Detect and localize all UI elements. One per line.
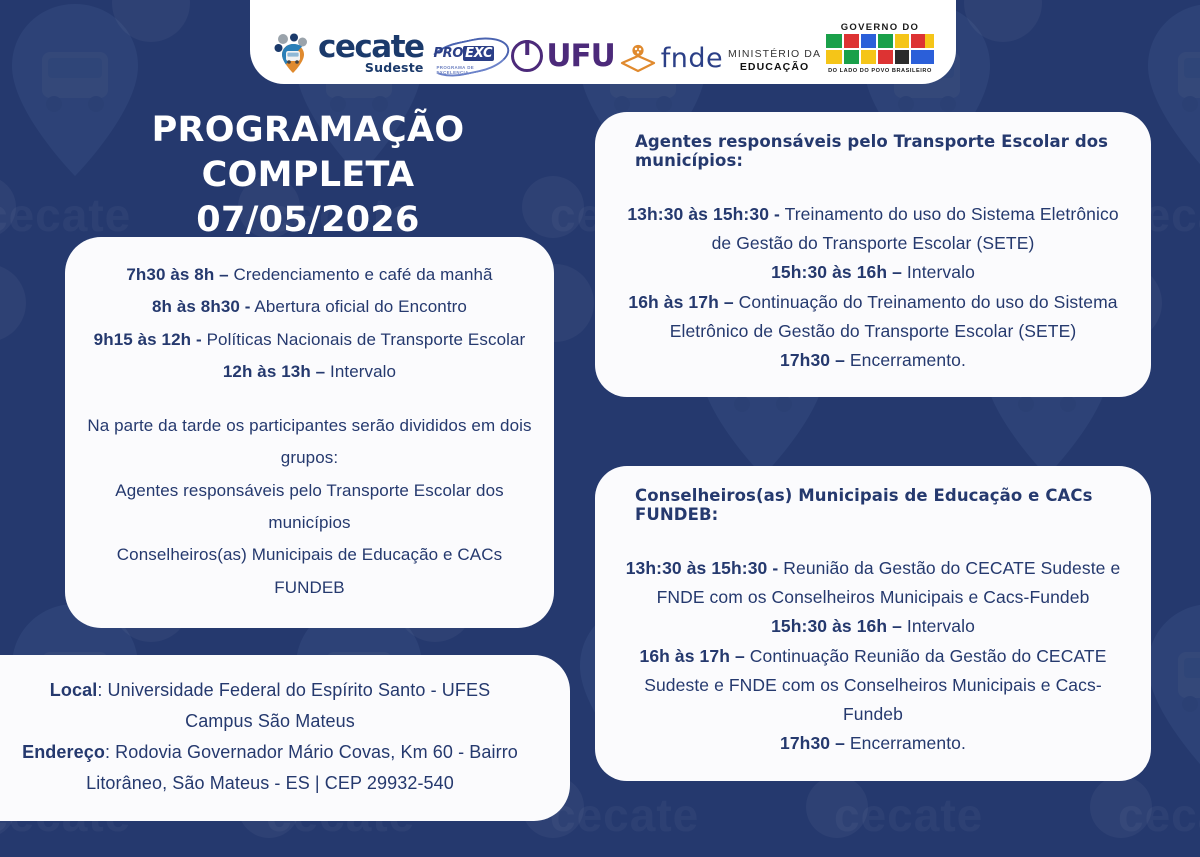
proexc-logo: PROEXC PROGRAMA DE EXCELENCIA: [428, 38, 506, 74]
cecate-sub-wordmark: Sudeste: [365, 62, 424, 75]
schedule-time: 9h15 às 12h -: [94, 330, 202, 349]
agentes-card-title: Agentes responsáveis pelo Transporte Esc…: [617, 132, 1129, 170]
schedule-desc: Continuação do Treinamento do uso do Sis…: [670, 292, 1118, 341]
ministerio-line2: EDUCAÇÃO: [740, 61, 809, 74]
morning-schedule-card: 7h30 às 8h – Credenciamento e café da ma…: [65, 237, 554, 628]
cecate-mark-icon: [272, 32, 314, 74]
venue-address-value: : Rodovia Governador Mário Covas, Km 60 …: [86, 742, 518, 793]
group-note: Agentes responsáveis pelo Transporte Esc…: [83, 475, 536, 540]
venue-local-row: Local: Universidade Federal do Espírito …: [14, 675, 526, 737]
schedule-desc: Credenciamento e café da manhã: [229, 265, 493, 284]
watermark-wordmark: cecate: [834, 788, 983, 842]
spacer: [83, 388, 536, 410]
ufu-logo: UFU: [511, 38, 615, 74]
schedule-time: 13h:30 às 15h:30 -: [627, 204, 780, 224]
venue-local-label: Local: [50, 680, 98, 700]
poster-canvas: cecate cecate cecate cecate: [0, 0, 1200, 857]
ufu-wordmark: UFU: [546, 38, 615, 74]
group-note: Na parte da tarde os participantes serão…: [83, 410, 536, 475]
venue-local-value: : Universidade Federal do Espírito Santo…: [97, 680, 490, 731]
venue-address-row: Endereço: Rodovia Governador Mário Covas…: [14, 737, 526, 799]
fnde-wordmark: fnde: [661, 43, 723, 74]
watermark-circle: [112, 0, 190, 42]
schedule-row: 8h às 8h30 - Abertura oficial do Encontr…: [83, 291, 536, 323]
schedule-row: 7h30 às 8h – Credenciamento e café da ma…: [83, 259, 536, 291]
schedule-time: 17h30 –: [780, 350, 845, 370]
brasil-blocks-icon: [826, 34, 934, 66]
schedule-desc: Intervalo: [902, 616, 975, 636]
schedule-time: 17h30 –: [780, 733, 845, 753]
fnde-logo: fnde: [620, 43, 723, 74]
governo-top-text: GOVERNO DO: [841, 22, 919, 33]
watermark-circle: [806, 776, 868, 838]
watermark-circle: [964, 0, 1042, 42]
schedule-time: 7h30 às 8h –: [126, 265, 228, 284]
fnde-mark-icon: [620, 44, 656, 74]
schedule-row: 15h:30 às 16h – Intervalo: [617, 258, 1129, 287]
schedule-time: 15h:30 às 16h –: [771, 616, 902, 636]
schedule-row: 12h às 13h – Intervalo: [83, 356, 536, 388]
schedule-time: 16h às 17h –: [628, 292, 733, 312]
cecate-logo: cecate Sudeste: [272, 32, 424, 75]
group-note: Conselheiros(as) Municipais de Educação …: [83, 539, 536, 604]
schedule-desc: Intervalo: [325, 362, 396, 381]
schedule-row: 17h30 – Encerramento.: [617, 729, 1129, 758]
agentes-card: Agentes responsáveis pelo Transporte Esc…: [595, 112, 1151, 397]
schedule-row: 13h:30 às 15h:30 - Reunião da Gestão do …: [617, 554, 1129, 612]
governo-bottom-text: DO LADO DO POVO BRASILEIRO: [828, 68, 932, 74]
schedule-desc: Intervalo: [902, 262, 975, 282]
schedule-row: 17h30 – Encerramento.: [617, 346, 1129, 375]
watermark-wordmark: cecate: [1118, 788, 1200, 842]
conselheiros-card: Conselheiros(as) Municipais de Educação …: [595, 466, 1151, 781]
ufu-mark-icon: [511, 40, 543, 72]
schedule-time: 15h:30 às 16h –: [771, 262, 902, 282]
schedule-desc: Abertura oficial do Encontro: [251, 297, 467, 316]
venue-card: Local: Universidade Federal do Espírito …: [0, 655, 570, 821]
proexc-wordmark: PROEXC: [433, 46, 494, 61]
venue-address-label: Endereço: [22, 742, 105, 762]
schedule-desc: Políticas Nacionais de Transporte Escola…: [202, 330, 526, 349]
governo-brasil-logo: GOVERNO DO DO LADO: [826, 22, 934, 74]
schedule-time: 12h às 13h –: [223, 362, 325, 381]
schedule-row: 16h às 17h – Continuação Reunião da Gest…: [617, 642, 1129, 730]
cecate-wordmark: cecate: [318, 32, 424, 63]
watermark-circle: [1090, 776, 1152, 838]
partner-logo-bar: cecate Sudeste PROEXC PROGRAMA DE EXCELE…: [250, 0, 956, 84]
schedule-desc: Encerramento.: [845, 350, 966, 370]
watermark-circle: [0, 176, 16, 238]
watermark-wordmark: cecate: [550, 788, 699, 842]
conselheiros-card-title: Conselheiros(as) Municipais de Educação …: [617, 486, 1129, 524]
watermark-circle: [0, 264, 26, 342]
headline-line-2: 07/05/2026: [48, 198, 568, 243]
ministerio-educacao-logo: MINISTÉRIO DA EDUCAÇÃO: [728, 48, 821, 74]
schedule-time: 8h às 8h30 -: [152, 297, 251, 316]
schedule-desc: Encerramento.: [845, 733, 966, 753]
proexc-tagline: PROGRAMA DE EXCELENCIA: [436, 65, 506, 75]
schedule-time: 13h:30 às 15h:30 -: [626, 558, 779, 578]
schedule-time: 16h às 17h –: [640, 646, 745, 666]
page-title: PROGRAMAÇÃO COMPLETA 07/05/2026: [48, 108, 568, 242]
schedule-row: 13h:30 às 15h:30 - Treinamento do uso do…: [617, 200, 1129, 258]
schedule-row: 16h às 17h – Continuação do Treinamento …: [617, 288, 1129, 346]
schedule-row: 9h15 às 12h - Políticas Nacionais de Tra…: [83, 324, 536, 356]
headline-line-1: PROGRAMAÇÃO COMPLETA: [152, 110, 465, 195]
schedule-row: 15h:30 às 16h – Intervalo: [617, 612, 1129, 641]
ministerio-line1: MINISTÉRIO DA: [728, 48, 821, 61]
